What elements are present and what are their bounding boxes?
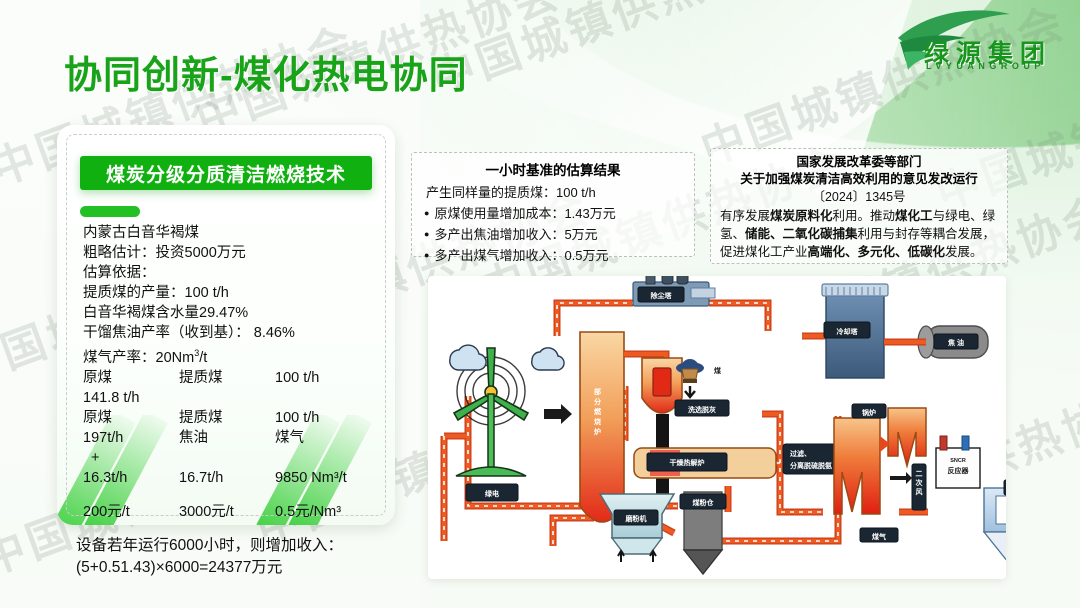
estimate-line: 产生同样量的提质煤：100 t/h	[426, 182, 694, 201]
cell	[186, 448, 281, 468]
label-cooling-tower: 冷却塔	[837, 327, 859, 336]
estimate-title: 一小时基准的估算结果	[412, 159, 694, 179]
page-title: 协同创新-煤化热电协同	[64, 44, 468, 99]
label-coal-powder-bin: 煤粉仓	[693, 498, 715, 507]
estimate-result-box: 一小时基准的估算结果 产生同样量的提质煤：100 t/h 原煤使用量增加成本：1…	[411, 152, 695, 257]
cell: +	[83, 448, 186, 468]
bottom-note-line1: 设备若年运行6000小时，则增加收入：	[76, 535, 343, 557]
cell: 提质煤	[179, 408, 275, 428]
table-row: 原煤 提质煤 100 t/h	[83, 368, 379, 388]
body-line: 内蒙古白音华褐煤	[83, 223, 379, 243]
policy-emphasis: 高端化、多元化、低碳化	[808, 245, 946, 259]
cell: 煤气	[275, 428, 375, 448]
left-card-header-label: 煤炭分级分质清洁燃烧技术	[106, 160, 346, 187]
company-logo: 绿源集团 LVYUANGROUP	[890, 8, 1066, 78]
table-row: 16.3t/h 16.7t/h 9850 Nm³/t	[83, 468, 379, 488]
policy-head-1: 国家发展改革委等部门	[720, 154, 998, 171]
estimate-bullet: 原煤使用量增加成本：1.43万元	[424, 203, 694, 222]
arrow-left-icon	[890, 472, 912, 484]
policy-text: 发展。	[945, 245, 983, 259]
label-coal: 煤	[714, 366, 722, 375]
policy-text: 利用。推动	[833, 209, 896, 223]
policy-head-2: 关于加强煤炭清洁高效利用的意见发改运行	[720, 171, 998, 188]
label-wash-deash: 洗选脱灰	[688, 405, 716, 414]
cell: 100 t/h	[275, 408, 375, 428]
gas-yield-suffix: /t	[199, 350, 207, 366]
bottom-note: 设备若年运行6000小时，则增加收入： (5+0.51.43)×6000=243…	[76, 535, 343, 579]
table-row: 原煤 提质煤 100 t/h	[83, 408, 379, 428]
label-dry-pyrolysis-furnace: 干燥热解炉	[670, 458, 705, 467]
label-secondary-air: 二次风	[916, 470, 923, 496]
table-row: +	[83, 448, 379, 468]
label-filter-2: 分离脱硫脱氨	[790, 461, 832, 470]
body-line: 粗略估计：投资5000万元	[83, 243, 379, 263]
policy-emphasis: 储能、二氧化碳捕集	[745, 227, 858, 241]
cell: 200元/t	[83, 502, 179, 522]
label-coal-gas: 煤气	[872, 532, 886, 541]
body-line: 提质煤的产量：100 t/h	[83, 283, 379, 303]
label-boiler: 锅炉	[861, 408, 876, 417]
logo-subtitle: LVYUANGROUP	[926, 61, 1045, 71]
policy-document-number: 〔2024〕1345号	[720, 188, 998, 206]
left-info-card: 煤炭分级分质清洁燃烧技术 内蒙古白音华褐煤 粗略估计：投资5000万元 估算依据…	[57, 125, 395, 525]
label-dust-tower: 除尘塔	[651, 291, 673, 300]
policy-body: 有序发展煤炭原料化利用。推动煤化工与绿电、绿氢、储能、二氧化碳捕集利用与封存等耦…	[720, 207, 998, 261]
policy-text: 有序发展	[720, 209, 770, 223]
policy-box: 国家发展改革委等部门 关于加强煤炭清洁高效利用的意见发改运行 〔2024〕134…	[710, 148, 1008, 264]
dust-collector	[984, 488, 1006, 562]
cell: 100 t/h	[275, 368, 375, 388]
cell: 原煤	[83, 368, 179, 388]
left-card-body: 内蒙古白音华褐煤 粗略估计：投资5000万元 估算依据： 提质煤的产量：100 …	[83, 223, 379, 522]
cell: 0.5元/Nm³	[275, 502, 375, 522]
table-row: 200元/t 3000元/t 0.5元/Nm³	[83, 502, 379, 522]
estimate-bullet: 多产出煤气增加收入：0.5万元	[424, 245, 694, 264]
table-row: 197t/h 焦油 煤气	[83, 428, 379, 448]
policy-emphasis: 煤炭原料化	[770, 209, 833, 223]
cell: 197t/h	[83, 428, 179, 448]
cell: 16.7t/h	[179, 468, 275, 488]
label-green-power: 绿电	[485, 489, 499, 498]
cell: 焦油	[179, 428, 275, 448]
body-line: 估算依据：	[83, 263, 379, 283]
green-pill-accent	[80, 206, 140, 217]
gas-yield-prefix: 煤气产率：20Nm	[83, 350, 194, 366]
bottom-note-line2: (5+0.51.43)×6000=24377万元	[76, 557, 343, 579]
label-filter-1: 过滤、	[790, 449, 811, 458]
cell: 16.3t/h	[83, 468, 179, 488]
policy-emphasis: 煤化工	[895, 209, 933, 223]
table-row: 141.8 t/h	[83, 388, 379, 408]
label-pulverizer: 磨粉机	[626, 514, 647, 523]
cell: 9850 Nm³/t	[275, 468, 375, 488]
table-row-spacer	[83, 488, 379, 502]
arrow-right-icon	[544, 404, 572, 424]
label-sncr-1: SNCR	[950, 458, 966, 464]
body-line: 干馏焦油产率（收到基）： 8.46%	[83, 323, 379, 343]
body-line: 白音华褐煤含水量29.47%	[83, 303, 379, 323]
cell	[275, 388, 375, 408]
left-card-header: 煤炭分级分质清洁燃烧技术	[80, 156, 372, 190]
cell: 3000元/t	[179, 502, 275, 522]
cell: 原煤	[83, 408, 179, 428]
cell	[280, 448, 379, 468]
process-flow-diagram: 绿电 部分燃烧炉 干燥热解炉 除尘塔 煤 洗选脱灰	[428, 276, 1006, 579]
diagram-svg: 绿电 部分燃烧炉 干燥热解炉 除尘塔 煤 洗选脱灰	[428, 276, 1006, 579]
label-partial-combustion-furnace: 部分燃烧炉	[593, 387, 602, 436]
label-tar: 焦 油	[947, 338, 964, 347]
cell: 提质煤	[179, 368, 275, 388]
estimate-bullet: 多产出焦油增加收入：5万元	[424, 224, 694, 243]
label-sncr-2: 反应器	[948, 466, 970, 475]
cell	[179, 388, 275, 408]
gas-yield-line: 煤气产率：20Nm3/t	[83, 343, 379, 368]
cell: 141.8 t/h	[83, 388, 179, 408]
